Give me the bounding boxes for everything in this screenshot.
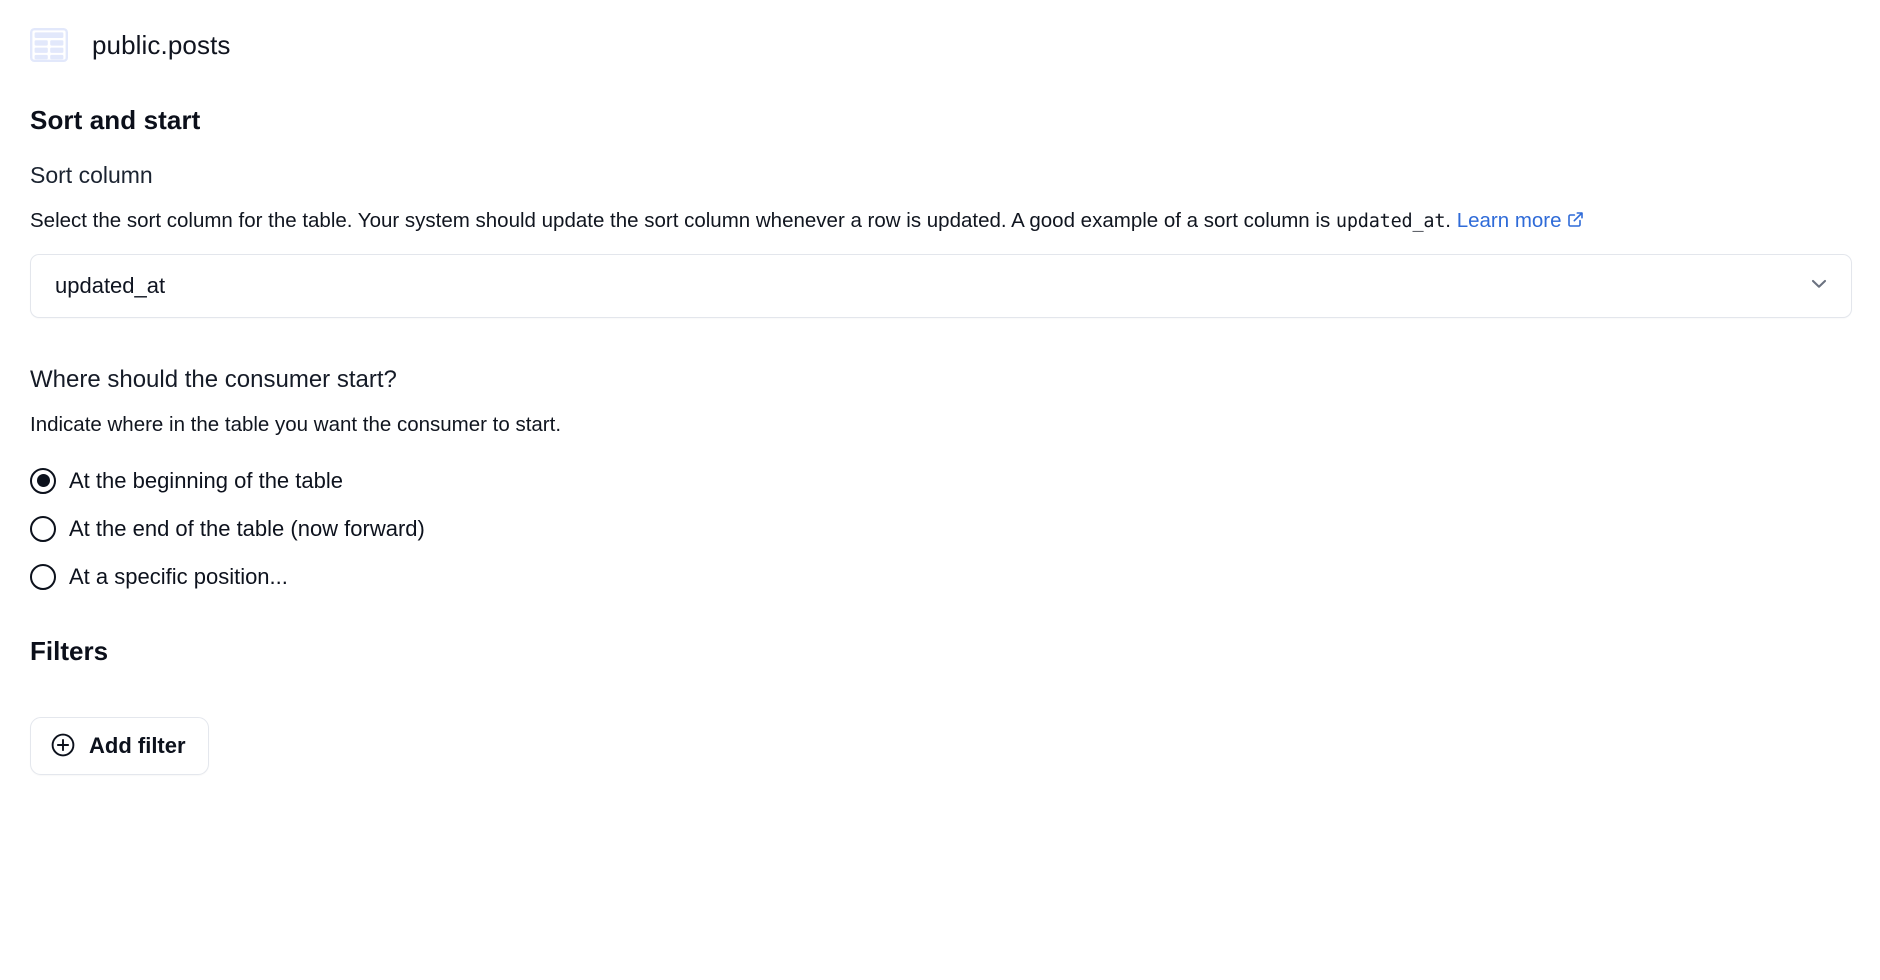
- consumer-start-description: Indicate where in the table you want the…: [30, 408, 1820, 441]
- radio-label-beginning: At the beginning of the table: [69, 470, 343, 492]
- page-title: public.posts: [92, 32, 231, 58]
- consumer-start-radio-group: At the beginning of the table At the end…: [30, 457, 1852, 601]
- radio-option-beginning[interactable]: At the beginning of the table: [30, 457, 1852, 505]
- external-link-icon: [1567, 205, 1584, 238]
- sort-column-description: Select the sort column for the table. Yo…: [30, 204, 1820, 238]
- settings-page: public.posts Sort and start Sort column …: [0, 0, 1880, 775]
- plus-circle-icon: [50, 732, 76, 761]
- radio-mark-beginning[interactable]: [30, 468, 56, 494]
- radio-mark-end[interactable]: [30, 516, 56, 542]
- add-filter-button[interactable]: Add filter: [30, 717, 209, 775]
- sort-column-select[interactable]: updated_at: [30, 254, 1852, 318]
- sort-column-code: updated_at: [1336, 211, 1445, 232]
- sort-column-label: Sort column: [30, 163, 1852, 188]
- sort-column-select-wrapper: updated_at: [30, 254, 1852, 318]
- sort-column-description-part1: Select the sort column for the table. Yo…: [30, 209, 1336, 232]
- sort-column-select-value: updated_at: [55, 273, 165, 299]
- radio-mark-specific-position[interactable]: [30, 564, 56, 590]
- filters-heading: Filters: [30, 637, 1852, 666]
- sort-column-description-part2: .: [1445, 209, 1456, 232]
- consumer-start-heading: Where should the consumer start?: [30, 366, 1852, 394]
- sort-and-start-heading: Sort and start: [30, 106, 1852, 135]
- radio-label-end: At the end of the table (now forward): [69, 518, 425, 540]
- radio-label-specific-position: At a specific position...: [69, 566, 288, 588]
- table-icon: [30, 28, 68, 62]
- add-filter-label: Add filter: [89, 735, 186, 757]
- learn-more-label: Learn more: [1457, 209, 1562, 232]
- radio-option-specific-position[interactable]: At a specific position...: [30, 553, 1852, 601]
- learn-more-link[interactable]: Learn more: [1457, 209, 1584, 232]
- radio-option-end[interactable]: At the end of the table (now forward): [30, 505, 1852, 553]
- table-header: public.posts: [30, 22, 1852, 68]
